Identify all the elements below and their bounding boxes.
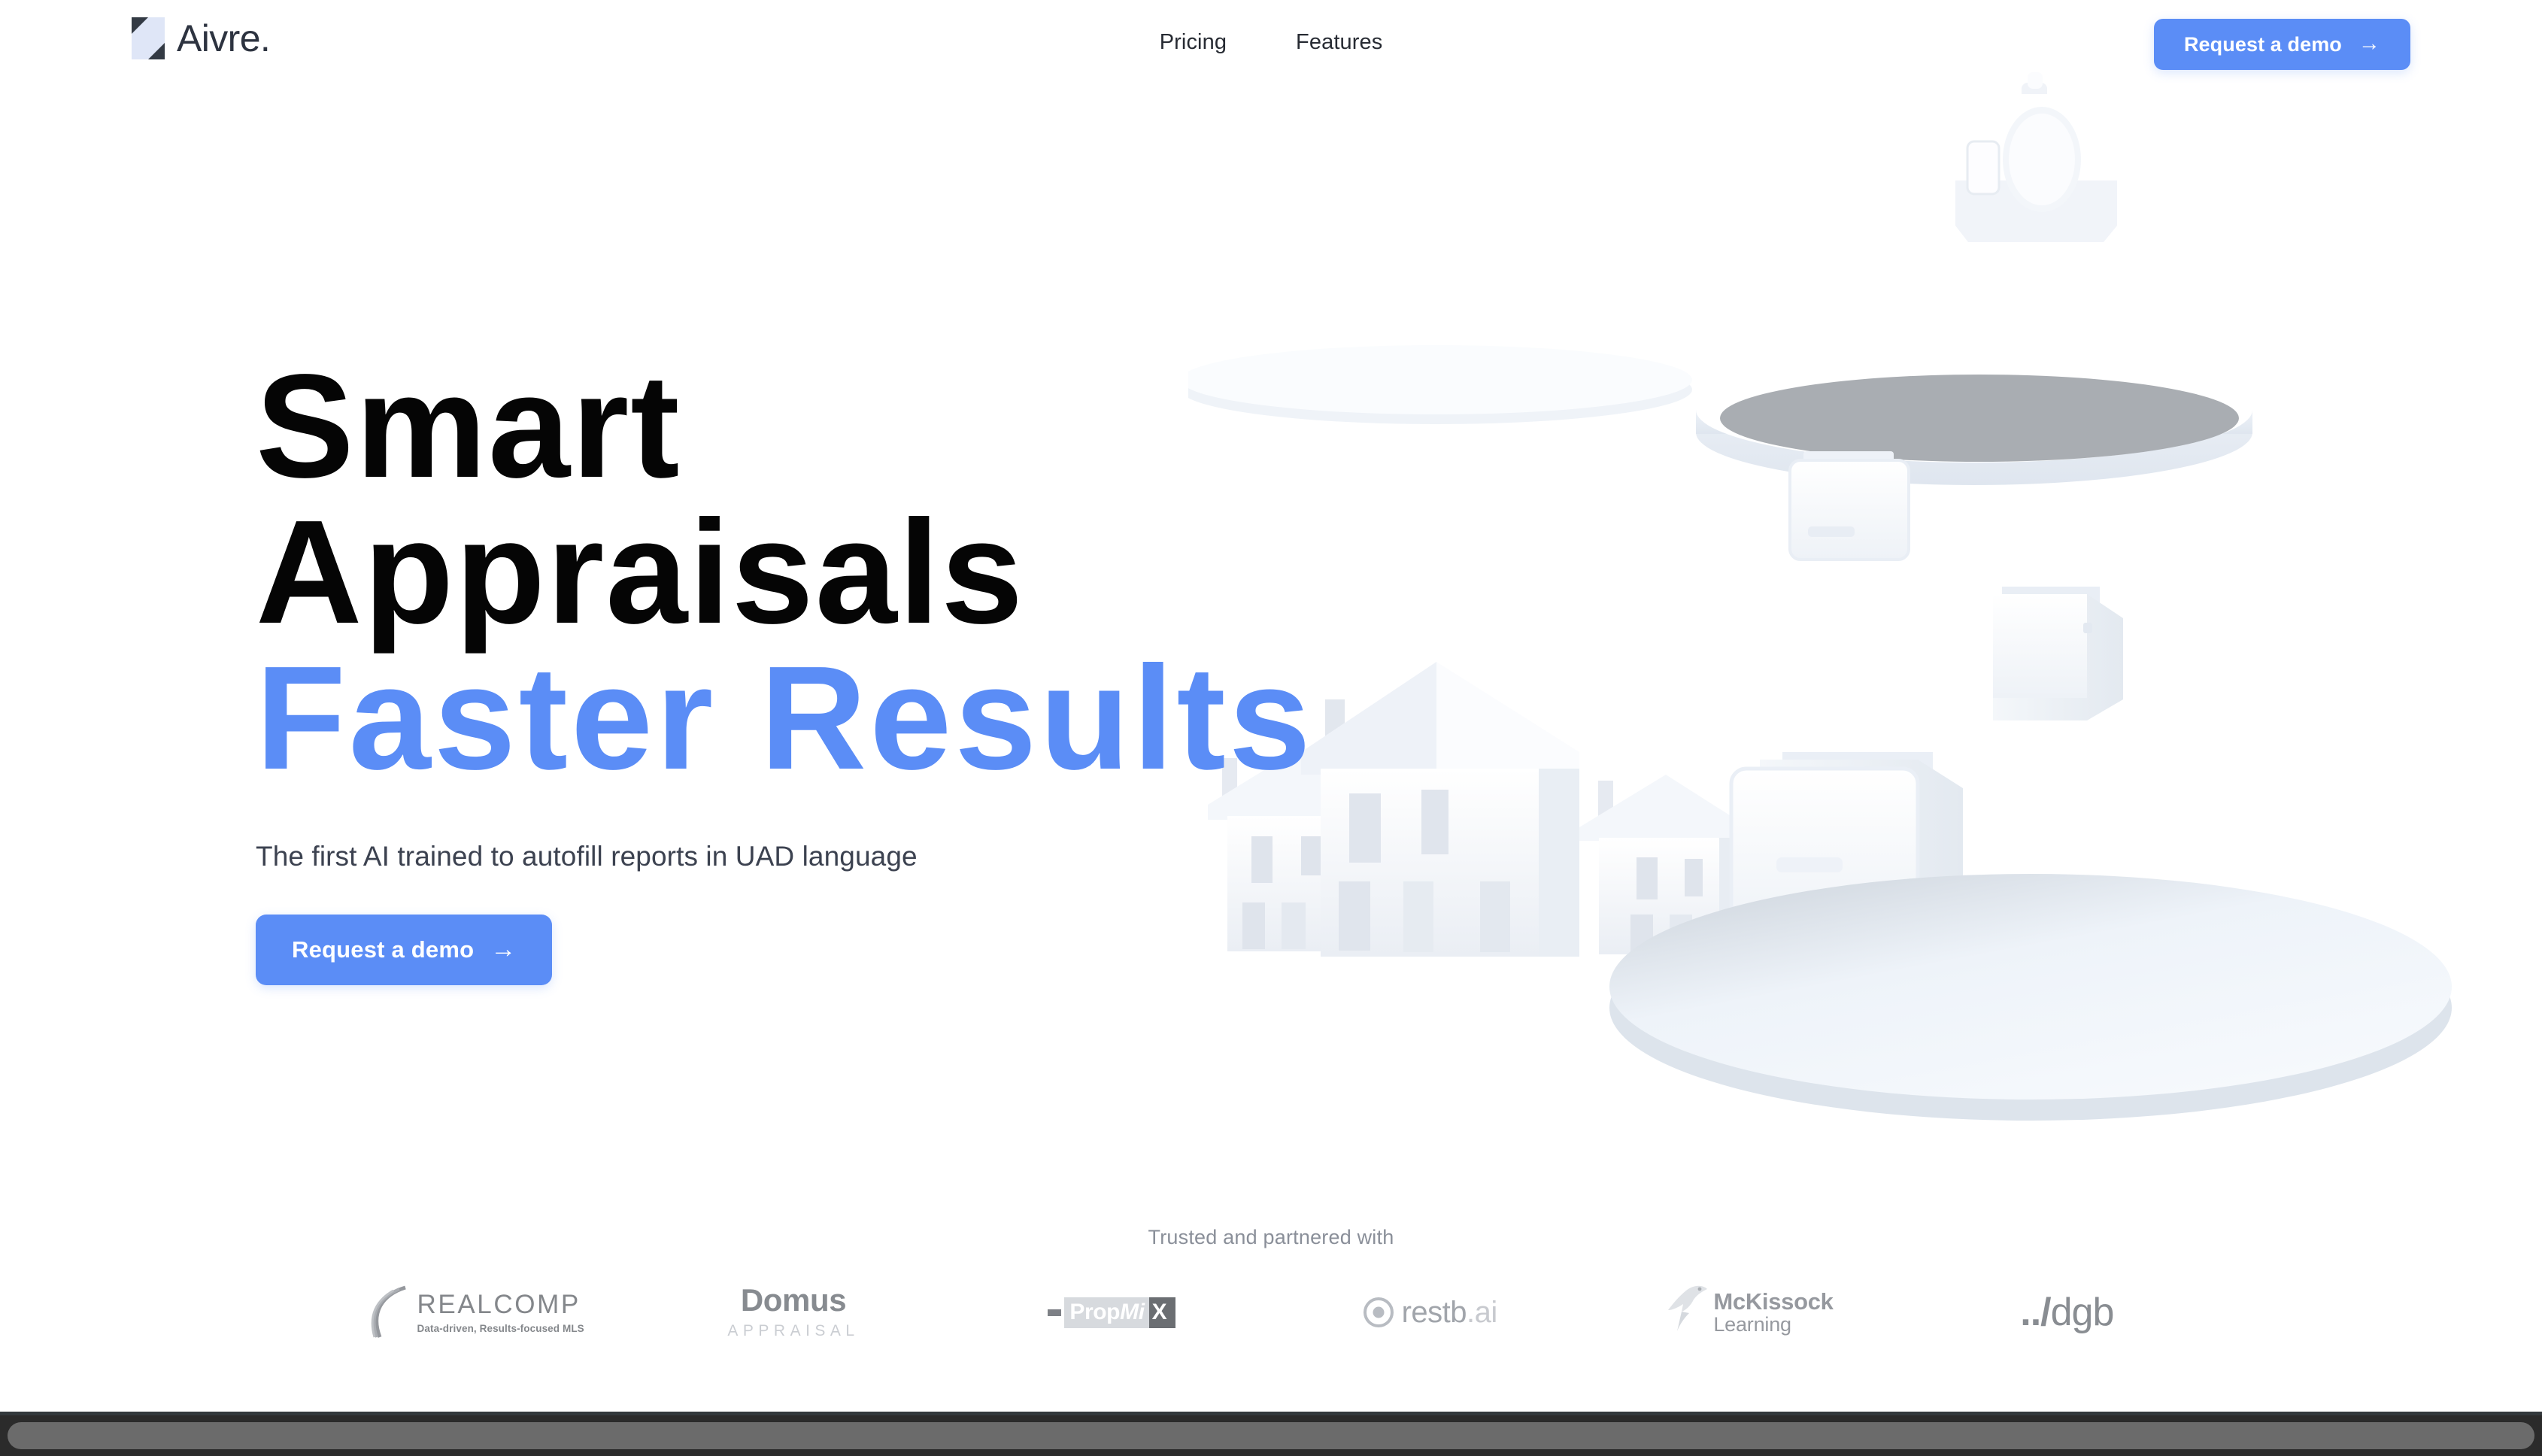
mckissock-wordmark: McKissock — [1713, 1289, 1833, 1314]
arrow-right-icon: → — [490, 936, 516, 962]
realcomp-wordmark: REALCOMP — [417, 1291, 584, 1318]
brand-logo[interactable]: Aivre. — [132, 17, 270, 60]
arrow-right-icon: → — [2358, 33, 2380, 55]
partners-title: Trusted and partnered with — [0, 1226, 2542, 1249]
partner-logo-dgb: ../dgb — [1908, 1278, 2226, 1347]
propmix-wordmark-x: X — [1149, 1297, 1176, 1328]
floating-disc-top — [1696, 357, 2252, 485]
domus-subtitle: APPRAISAL — [727, 1322, 859, 1340]
partner-logo-restb-ai: restb.ai — [1271, 1278, 1589, 1347]
realcomp-swoosh-icon — [366, 1285, 413, 1340]
horizontal-scrollbar-track[interactable] — [0, 1415, 2542, 1456]
headline-line-3: Faster Results — [256, 645, 1572, 791]
partner-logo-realcomp: REALCOMP Data-driven, Results-focused ML… — [316, 1278, 634, 1347]
hero-section: Smart Appraisals Faster Results The firs… — [0, 0, 2542, 1354]
hero-subtitle: The first AI trained to autofill reports… — [256, 841, 1572, 872]
header-request-demo-button[interactable]: Request a demo → — [2154, 19, 2410, 70]
floating-platform-large — [1609, 874, 2452, 1121]
horizontal-scrollbar-thumb[interactable] — [8, 1422, 2534, 1449]
header-cta-label: Request a demo — [2184, 33, 2342, 56]
nav-link-pricing[interactable]: Pricing — [1160, 30, 1227, 55]
document-page-icon — [132, 17, 165, 59]
partner-logo-mckissock: McKissock Learning — [1589, 1278, 1907, 1347]
file-drawer-small-top — [1790, 451, 1909, 560]
landing-page: Aivre. Pricing Features Request a demo → — [0, 0, 2542, 1456]
hummingbird-icon — [1664, 1277, 1710, 1333]
camera-3d — [1955, 72, 2117, 242]
file-drawer-large — [1731, 752, 1963, 942]
realcomp-tagline: Data-driven, Results-focused MLS — [417, 1323, 584, 1334]
propmix-dash-icon — [1048, 1309, 1061, 1316]
restb-wordmark: restb.ai — [1402, 1296, 1497, 1330]
domus-wordmark: Domus — [741, 1285, 846, 1316]
page-title: Smart Appraisals Faster Results — [256, 353, 1572, 791]
headline-line-2: Appraisals — [256, 499, 1572, 645]
partner-logo-domus: Domus APPRAISAL — [634, 1278, 952, 1347]
hero-cta-label: Request a demo — [292, 936, 474, 963]
dgb-wordmark: ../dgb — [2020, 1290, 2113, 1335]
partners-section: Trusted and partnered with REALCOMP Data… — [0, 1226, 2542, 1347]
restb-ring-icon — [1364, 1297, 1394, 1327]
partner-logo-propmix: PropMi X — [953, 1278, 1271, 1347]
hero-copy: Smart Appraisals Faster Results The firs… — [256, 353, 1572, 985]
hero-request-demo-button[interactable]: Request a demo → — [256, 915, 552, 985]
nav-link-features[interactable]: Features — [1296, 30, 1382, 55]
partner-logo-row: REALCOMP Data-driven, Results-focused ML… — [0, 1278, 2542, 1347]
propmix-wordmark-prop: PropMi — [1064, 1297, 1148, 1328]
file-drawer-small-right — [1993, 587, 2123, 720]
main-nav: Pricing Features — [1160, 30, 1383, 55]
headline-line-1: Smart — [256, 353, 1572, 499]
site-header: Aivre. Pricing Features Request a demo → — [0, 0, 2542, 89]
brand-name: Aivre. — [177, 17, 270, 60]
mckissock-subtitle: Learning — [1713, 1314, 1833, 1336]
